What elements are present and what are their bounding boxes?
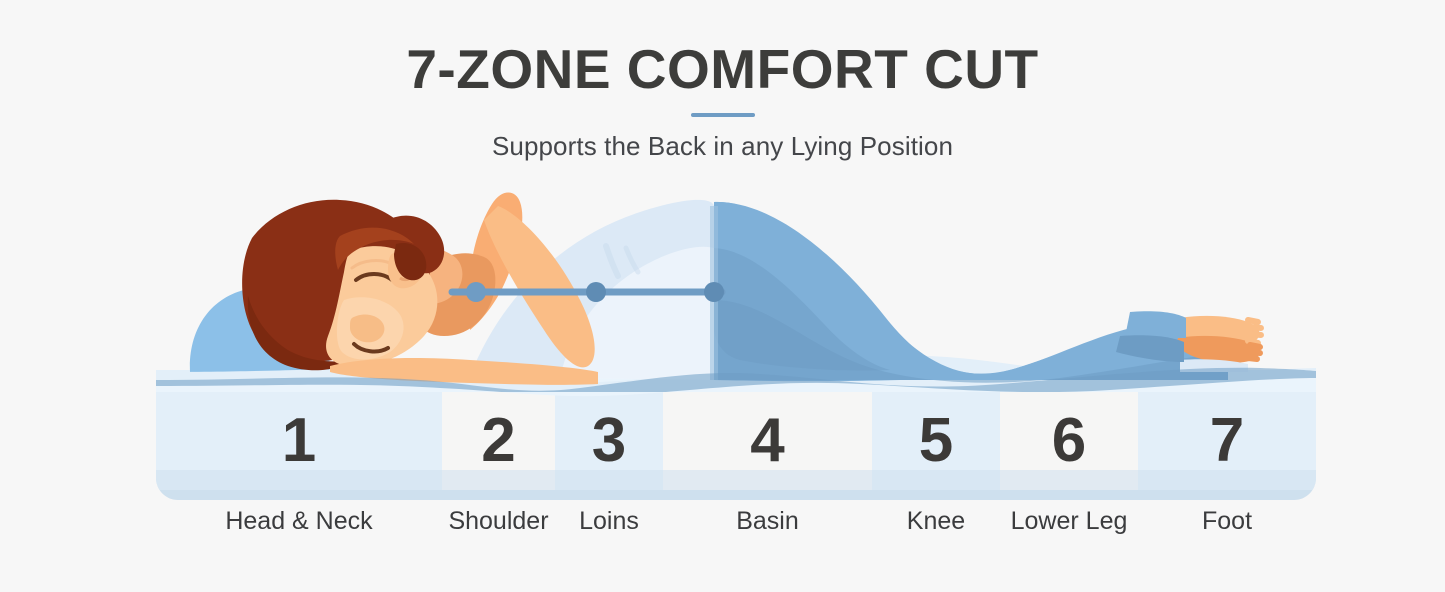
zone-label-head-neck: Head & Neck xyxy=(156,503,442,539)
zone-number-4: 4 xyxy=(663,406,872,476)
figure-group xyxy=(156,193,1316,397)
zone-label-loins: Loins xyxy=(555,503,663,539)
spine-dot-1 xyxy=(466,282,486,302)
zone-number-1: 1 xyxy=(156,406,442,476)
zone-label-shoulder: Shoulder xyxy=(442,503,555,539)
toes-lower xyxy=(1248,345,1260,359)
zone-label-knee: Knee xyxy=(872,503,1000,539)
zone-label-lower-leg: Lower Leg xyxy=(1000,503,1138,539)
zone-label-basin: Basin xyxy=(663,503,872,539)
zone-number-7: 7 xyxy=(1138,406,1316,476)
spine-dot-2 xyxy=(586,282,606,302)
feet-group xyxy=(1176,316,1261,372)
zone-number-3: 3 xyxy=(555,406,663,476)
infographic-root: 7-ZONE COMFORT CUT Supports the Back in … xyxy=(0,0,1445,592)
zone-labels: Head & Neck Shoulder Loins Basin Knee Lo… xyxy=(156,503,1316,543)
zone-number-5: 5 xyxy=(872,406,1000,476)
zone-label-foot: Foot xyxy=(1138,503,1316,539)
spine-dot-3 xyxy=(704,282,724,302)
zone-number-6: 6 xyxy=(1000,406,1138,476)
zone-number-2: 2 xyxy=(442,406,555,476)
